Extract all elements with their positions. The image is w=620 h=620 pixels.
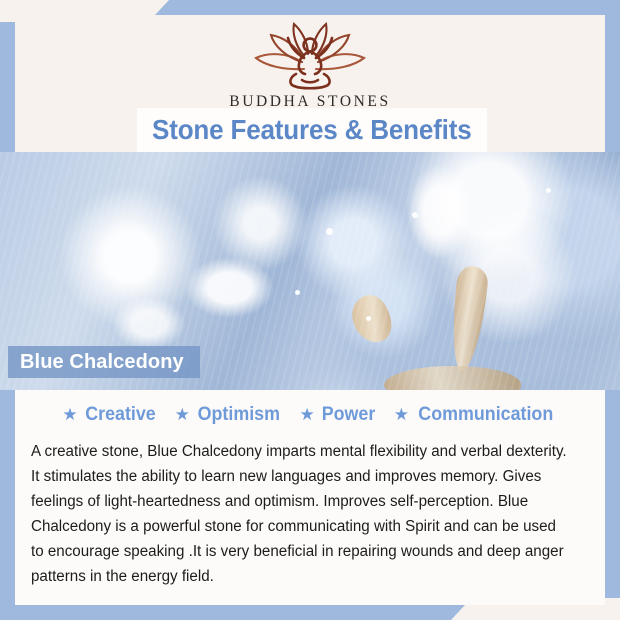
star-icon: ★ <box>300 406 315 423</box>
keyword-label: Optimism <box>198 404 280 426</box>
highlight-dot <box>546 188 551 193</box>
stone-info-card: BUDDHA STONES Stone Features & Benefits … <box>0 0 620 620</box>
keyword-label: Creative <box>85 404 156 426</box>
brand-logo: BUDDHA STONES <box>15 15 605 111</box>
section-title-band: Stone Features & Benefits <box>137 108 487 152</box>
keyword-label: Power <box>321 404 375 426</box>
stone-name-label: Blue Chalcedony <box>8 346 200 378</box>
highlight-dot <box>326 228 333 235</box>
star-icon: ★ <box>175 406 190 423</box>
page-title: Stone Features & Benefits <box>152 114 471 146</box>
frame-bar-bottom <box>0 605 465 620</box>
frame-bar-top <box>155 0 620 15</box>
keyword-item-creative: ★ Creative <box>62 404 157 426</box>
keyword-label: Communication <box>418 404 553 426</box>
keyword-list: ★ Creative ★ Optimism ★ Power ★ Communic… <box>15 390 605 426</box>
keyword-item-optimism: ★ Optimism <box>175 404 283 426</box>
stone-name-text: Blue Chalcedony <box>20 351 184 374</box>
card-body: ★ Creative ★ Optimism ★ Power ★ Communic… <box>15 390 605 605</box>
keyword-item-communication: ★ Communication <box>394 404 558 426</box>
star-icon: ★ <box>62 406 77 423</box>
highlight-dot <box>295 290 300 295</box>
stone-description: A creative stone, Blue Chalcedony impart… <box>31 439 573 589</box>
star-icon: ★ <box>394 406 409 423</box>
lotus-meditation-icon <box>244 22 376 92</box>
keyword-item-power: ★ Power <box>300 404 377 426</box>
highlight-dot <box>412 212 418 218</box>
